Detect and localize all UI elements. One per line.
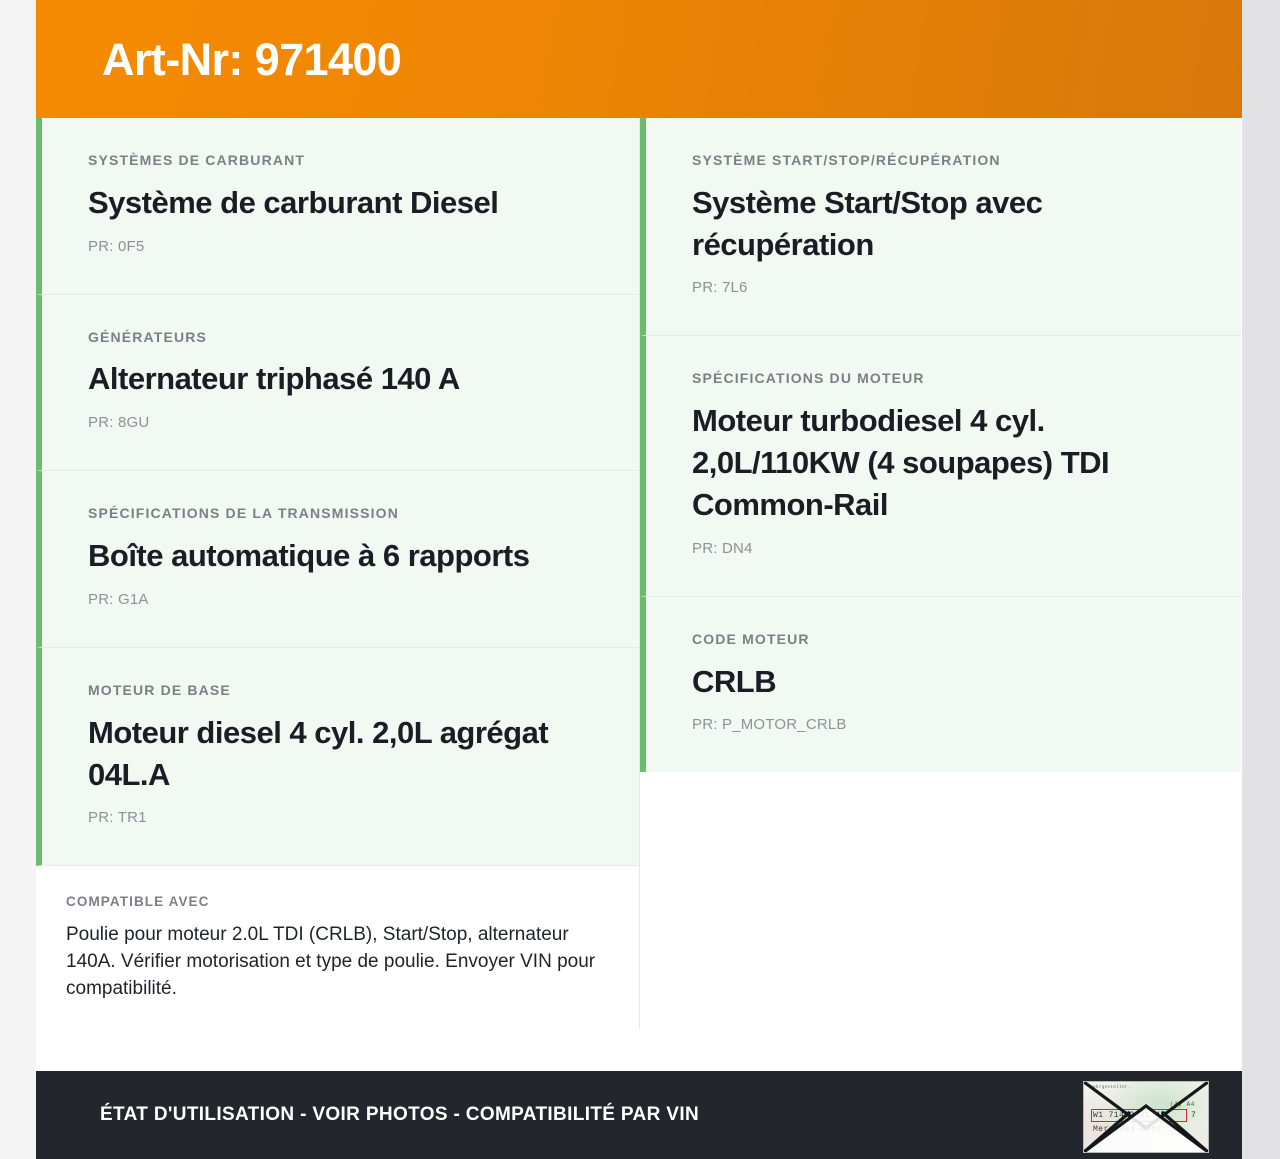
spec-title: Alternateur triphasé 140 A <box>88 358 591 400</box>
spec-pr-code: PR: 8GU <box>88 414 591 432</box>
spec-label: Système Start/Stop/récupération <box>692 152 1193 169</box>
spec-title: Moteur diesel 4 cyl. 2,0L agrégat 04L.A <box>88 712 591 796</box>
right-column: Système Start/Stop/récupération Système … <box>640 118 1241 772</box>
spec-label: Moteur de base <box>88 682 591 699</box>
registration-field-label: Fahrgestellnr. <box>1090 1085 1131 1090</box>
registration-field-code: (4) A4 <box>1170 1101 1195 1108</box>
spec-card-generator[interactable]: Générateurs Alternateur triphasé 140 A P… <box>36 295 639 472</box>
compatibility-block: Compatible avec Poulie pour moteur 2.0L … <box>36 866 639 1028</box>
vin-number: W1 71463J31 4B <box>1093 1111 1166 1120</box>
vehicle-make: Mercedes-Benz <box>1093 1125 1162 1134</box>
spec-card-transmission[interactable]: Spécifications de la transmission Boîte … <box>36 471 639 648</box>
spec-card-start-stop[interactable]: Système Start/Stop/récupération Système … <box>640 118 1241 336</box>
compatibility-label: Compatible avec <box>66 894 599 910</box>
spec-label: Spécifications du moteur <box>692 370 1193 387</box>
spec-card-engine-specs[interactable]: Spécifications du moteur Moteur turbodie… <box>640 336 1241 596</box>
spec-label: Spécifications de la transmission <box>88 505 591 522</box>
spec-pr-code: PR: 0F5 <box>88 238 591 256</box>
spec-title: Boîte automatique à 6 rapports <box>88 535 591 577</box>
spec-pr-code: PR: G1A <box>88 591 591 609</box>
product-spec-sheet: Art-Nr: 971400 Systèmes de carburant Sys… <box>36 0 1242 1159</box>
vin-registration-badge[interactable]: Fahrgestellnr. (4) A4 W1 71463J31 4B 7 M… <box>1083 1081 1209 1153</box>
spec-card-fuel-system[interactable]: Systèmes de carburant Système de carbura… <box>36 118 639 295</box>
spec-label: Systèmes de carburant <box>88 152 591 169</box>
vin-number-suffix: 7 <box>1191 1111 1196 1120</box>
spec-card-base-engine[interactable]: Moteur de base Moteur diesel 4 cyl. 2,0L… <box>36 648 639 866</box>
spec-columns: Systèmes de carburant Système de carbura… <box>36 118 1242 1071</box>
spec-pr-code: PR: 7L6 <box>692 279 1193 297</box>
spec-pr-code: PR: P_MOTOR_CRLB <box>692 716 1193 734</box>
spec-title: Moteur turbodiesel 4 cyl. 2,0L/110KW (4 … <box>692 400 1193 526</box>
spec-title: Système de carburant Diesel <box>88 182 591 224</box>
compatibility-text: Poulie pour moteur 2.0L TDI (CRLB), Star… <box>66 921 599 1003</box>
page-title: Art-Nr: 971400 <box>102 37 401 82</box>
footer-bar: État d'utilisation - Voir photos - Compa… <box>36 1071 1242 1159</box>
spec-pr-code: PR: TR1 <box>88 809 591 827</box>
spec-title: CRLB <box>692 661 1193 703</box>
spec-title: Système Start/Stop avec récupération <box>692 182 1193 266</box>
header-bar: Art-Nr: 971400 <box>36 0 1242 118</box>
left-column: Systèmes de carburant Système de carbura… <box>36 118 640 1029</box>
spec-label: Générateurs <box>88 329 591 346</box>
spec-card-engine-code[interactable]: Code moteur CRLB PR: P_MOTOR_CRLB <box>640 597 1241 773</box>
spec-label: Code moteur <box>692 631 1193 648</box>
footer-notice: État d'utilisation - Voir photos - Compa… <box>100 1105 699 1126</box>
spec-pr-code: PR: DN4 <box>692 540 1193 558</box>
